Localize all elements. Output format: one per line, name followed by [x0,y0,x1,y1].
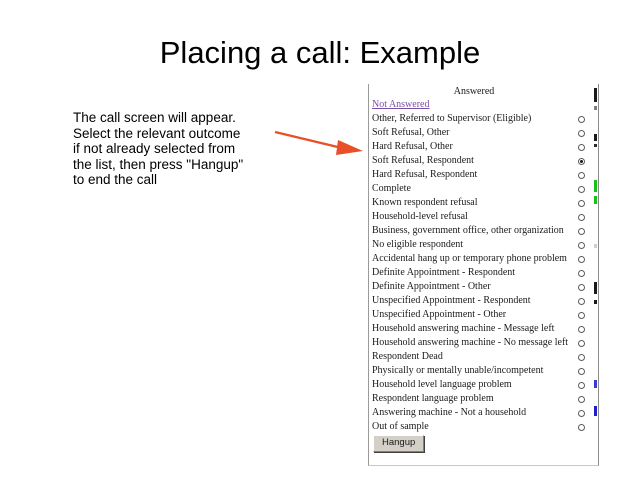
outcome-radio[interactable] [578,242,585,249]
edge-artifact [594,406,597,416]
instruction-text-block: The call screen will appear. Select the … [73,110,278,188]
answered-header-label: Answered [369,86,579,97]
outcome-radio[interactable] [578,410,585,417]
hangup-button-container: Hangup [369,435,598,455]
slide-canvas: Placing a call: Example The call screen … [0,0,640,480]
outcome-row[interactable]: Physically or mentally unable/incompeten… [369,364,598,378]
edge-artifact [594,106,597,110]
outcome-radio[interactable] [578,340,585,347]
instruction-line: the list, then press "Hangup" [73,157,278,173]
panel-edge-artifact-strip [593,84,598,466]
outcome-row[interactable]: Complete [369,182,598,196]
outcome-label: Household level language problem [372,378,512,392]
outcome-radio[interactable] [578,354,585,361]
outcome-label: Respondent Dead [372,350,443,364]
outcome-row[interactable]: Respondent Dead [369,350,598,364]
edge-artifact [594,244,597,248]
not-answered-link[interactable]: Not Answered [372,99,430,110]
edge-artifact [594,282,597,294]
outcome-label: Household-level refusal [372,210,468,224]
outcome-row[interactable]: Unspecified Appointment - Respondent [369,294,598,308]
outcome-label: Out of sample [372,420,429,434]
outcome-row[interactable]: Soft Refusal, Other [369,126,598,140]
outcome-row[interactable]: Unspecified Appointment - Other [369,308,598,322]
outcome-label: Definite Appointment - Other [372,280,491,294]
edge-artifact [594,144,597,147]
outcome-radio[interactable] [578,116,585,123]
page-title: Placing a call: Example [0,36,640,70]
call-outcome-list: Other, Referred to Supervisor (Eligible)… [369,112,598,434]
outcome-label: Hard Refusal, Other [372,140,453,154]
outcome-label: Unspecified Appointment - Other [372,308,506,322]
instruction-line: if not already selected from [73,141,278,157]
instruction-line: The call screen will appear. [73,110,278,126]
edge-artifact [594,300,597,304]
outcome-row[interactable]: No eligible respondent [369,238,598,252]
outcome-radio[interactable] [578,284,585,291]
outcome-row[interactable]: Definite Appointment - Other [369,280,598,294]
outcome-radio[interactable] [578,172,585,179]
outcome-row[interactable]: Out of sample [369,420,598,434]
outcome-label: Answering machine - Not a household [372,406,526,420]
outcome-label: Accidental hang up or temporary phone pr… [372,252,567,266]
outcome-radio[interactable] [578,396,585,403]
outcome-label: Soft Refusal, Other [372,126,450,140]
outcome-radio[interactable] [578,228,585,235]
outcome-row[interactable]: Hard Refusal, Other [369,140,598,154]
outcome-label: Physically or mentally unable/incompeten… [372,364,543,378]
outcome-radio-selected[interactable] [578,158,585,165]
outcome-row[interactable]: Definite Appointment - Respondent [369,266,598,280]
outcome-radio[interactable] [578,382,585,389]
outcome-label: Complete [372,182,411,196]
outcome-row[interactable]: Household answering machine - No message… [369,336,598,350]
outcome-row[interactable]: Hard Refusal, Respondent [369,168,598,182]
edge-artifact [594,180,597,192]
outcome-radio[interactable] [578,186,585,193]
outcome-label: Unspecified Appointment - Respondent [372,294,531,308]
outcome-row[interactable]: Household level language problem [369,378,598,392]
outcome-row[interactable]: Known respondent refusal [369,196,598,210]
red-arrow-icon [270,124,370,158]
instruction-line: to end the call [73,172,278,188]
outcome-row[interactable]: Answering machine - Not a household [369,406,598,420]
outcome-radio[interactable] [578,270,585,277]
outcome-label: Hard Refusal, Respondent [372,168,477,182]
outcome-row[interactable]: Other, Referred to Supervisor (Eligible) [369,112,598,126]
edge-artifact [594,380,597,388]
outcome-radio[interactable] [578,144,585,151]
outcome-row[interactable]: Soft Refusal, Respondent [369,154,598,168]
outcome-row[interactable]: Business, government office, other organ… [369,224,598,238]
outcome-radio[interactable] [578,214,585,221]
outcome-label: Business, government office, other organ… [372,224,564,238]
edge-artifact [594,134,597,141]
outcome-label: Respondent language problem [372,392,494,406]
outcome-row[interactable]: Respondent language problem [369,392,598,406]
outcome-radio[interactable] [578,326,585,333]
outcome-label: No eligible respondent [372,238,463,252]
instruction-line: Select the relevant outcome [73,126,278,142]
call-screen-screenshot: Answered Not Answered Other, Referred to… [368,84,599,466]
outcome-radio[interactable] [578,200,585,207]
outcome-radio[interactable] [578,424,585,431]
edge-artifact [594,88,597,102]
outcome-label: Other, Referred to Supervisor (Eligible) [372,112,531,126]
outcome-row[interactable]: Accidental hang up or temporary phone pr… [369,252,598,266]
edge-artifact [594,196,597,204]
outcome-label: Soft Refusal, Respondent [372,154,474,168]
outcome-row[interactable]: Household answering machine - Message le… [369,322,598,336]
outcome-label: Household answering machine - No message… [372,336,568,350]
outcome-radio[interactable] [578,312,585,319]
outcome-label: Household answering machine - Message le… [372,322,554,336]
outcome-radio[interactable] [578,368,585,375]
outcome-label: Definite Appointment - Respondent [372,266,515,280]
outcome-radio[interactable] [578,130,585,137]
outcome-radio[interactable] [578,256,585,263]
outcome-radio[interactable] [578,298,585,305]
outcome-label: Known respondent refusal [372,196,478,210]
outcome-row[interactable]: Household-level refusal [369,210,598,224]
hangup-button[interactable]: Hangup [373,435,424,452]
